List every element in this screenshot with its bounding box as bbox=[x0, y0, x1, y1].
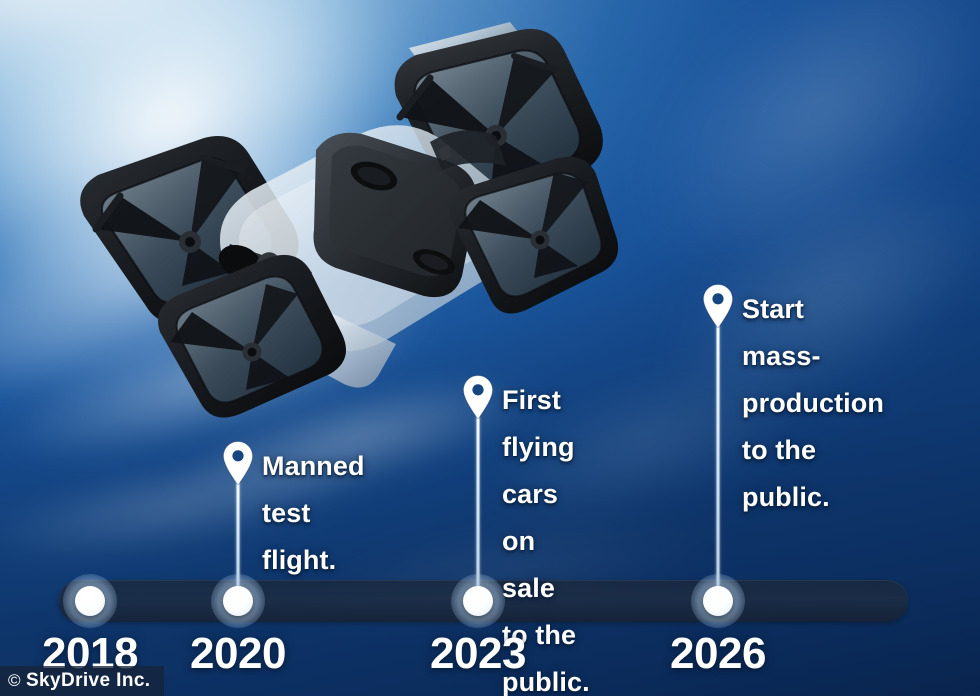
timeline-dot-2020[interactable] bbox=[211, 574, 265, 628]
screenshot-canvas: 2018Manned test flight.2020First flying … bbox=[0, 0, 980, 696]
milestone-connector-line bbox=[717, 325, 720, 601]
timeline-dot-inner bbox=[223, 586, 253, 616]
copyright-icon: © bbox=[8, 672, 21, 689]
timeline-dot-2018[interactable] bbox=[63, 574, 117, 628]
timeline-year-2026: 2026 bbox=[670, 632, 766, 676]
map-pin-icon[interactable] bbox=[701, 283, 735, 329]
timeline-year-2020: 2020 bbox=[190, 632, 286, 676]
timeline-dot-2026[interactable] bbox=[691, 574, 745, 628]
timeline-dot-inner bbox=[703, 586, 733, 616]
copyright-watermark: © SkyDrive Inc. bbox=[0, 666, 164, 696]
timeline-dot-2023[interactable] bbox=[451, 574, 505, 628]
timeline-year-2023: 2023 bbox=[430, 632, 526, 676]
timeline-dot-inner bbox=[75, 586, 105, 616]
map-pin-icon[interactable] bbox=[221, 440, 255, 486]
milestone-label-2020: Manned test flight. bbox=[262, 443, 365, 584]
timeline: 2018Manned test flight.2020First flying … bbox=[0, 0, 980, 696]
milestone-label-2026: Start mass-production to the public. bbox=[742, 286, 884, 521]
timeline-dot-inner bbox=[463, 586, 493, 616]
map-pin-icon[interactable] bbox=[461, 374, 495, 420]
copyright-text: SkyDrive Inc. bbox=[26, 671, 151, 690]
